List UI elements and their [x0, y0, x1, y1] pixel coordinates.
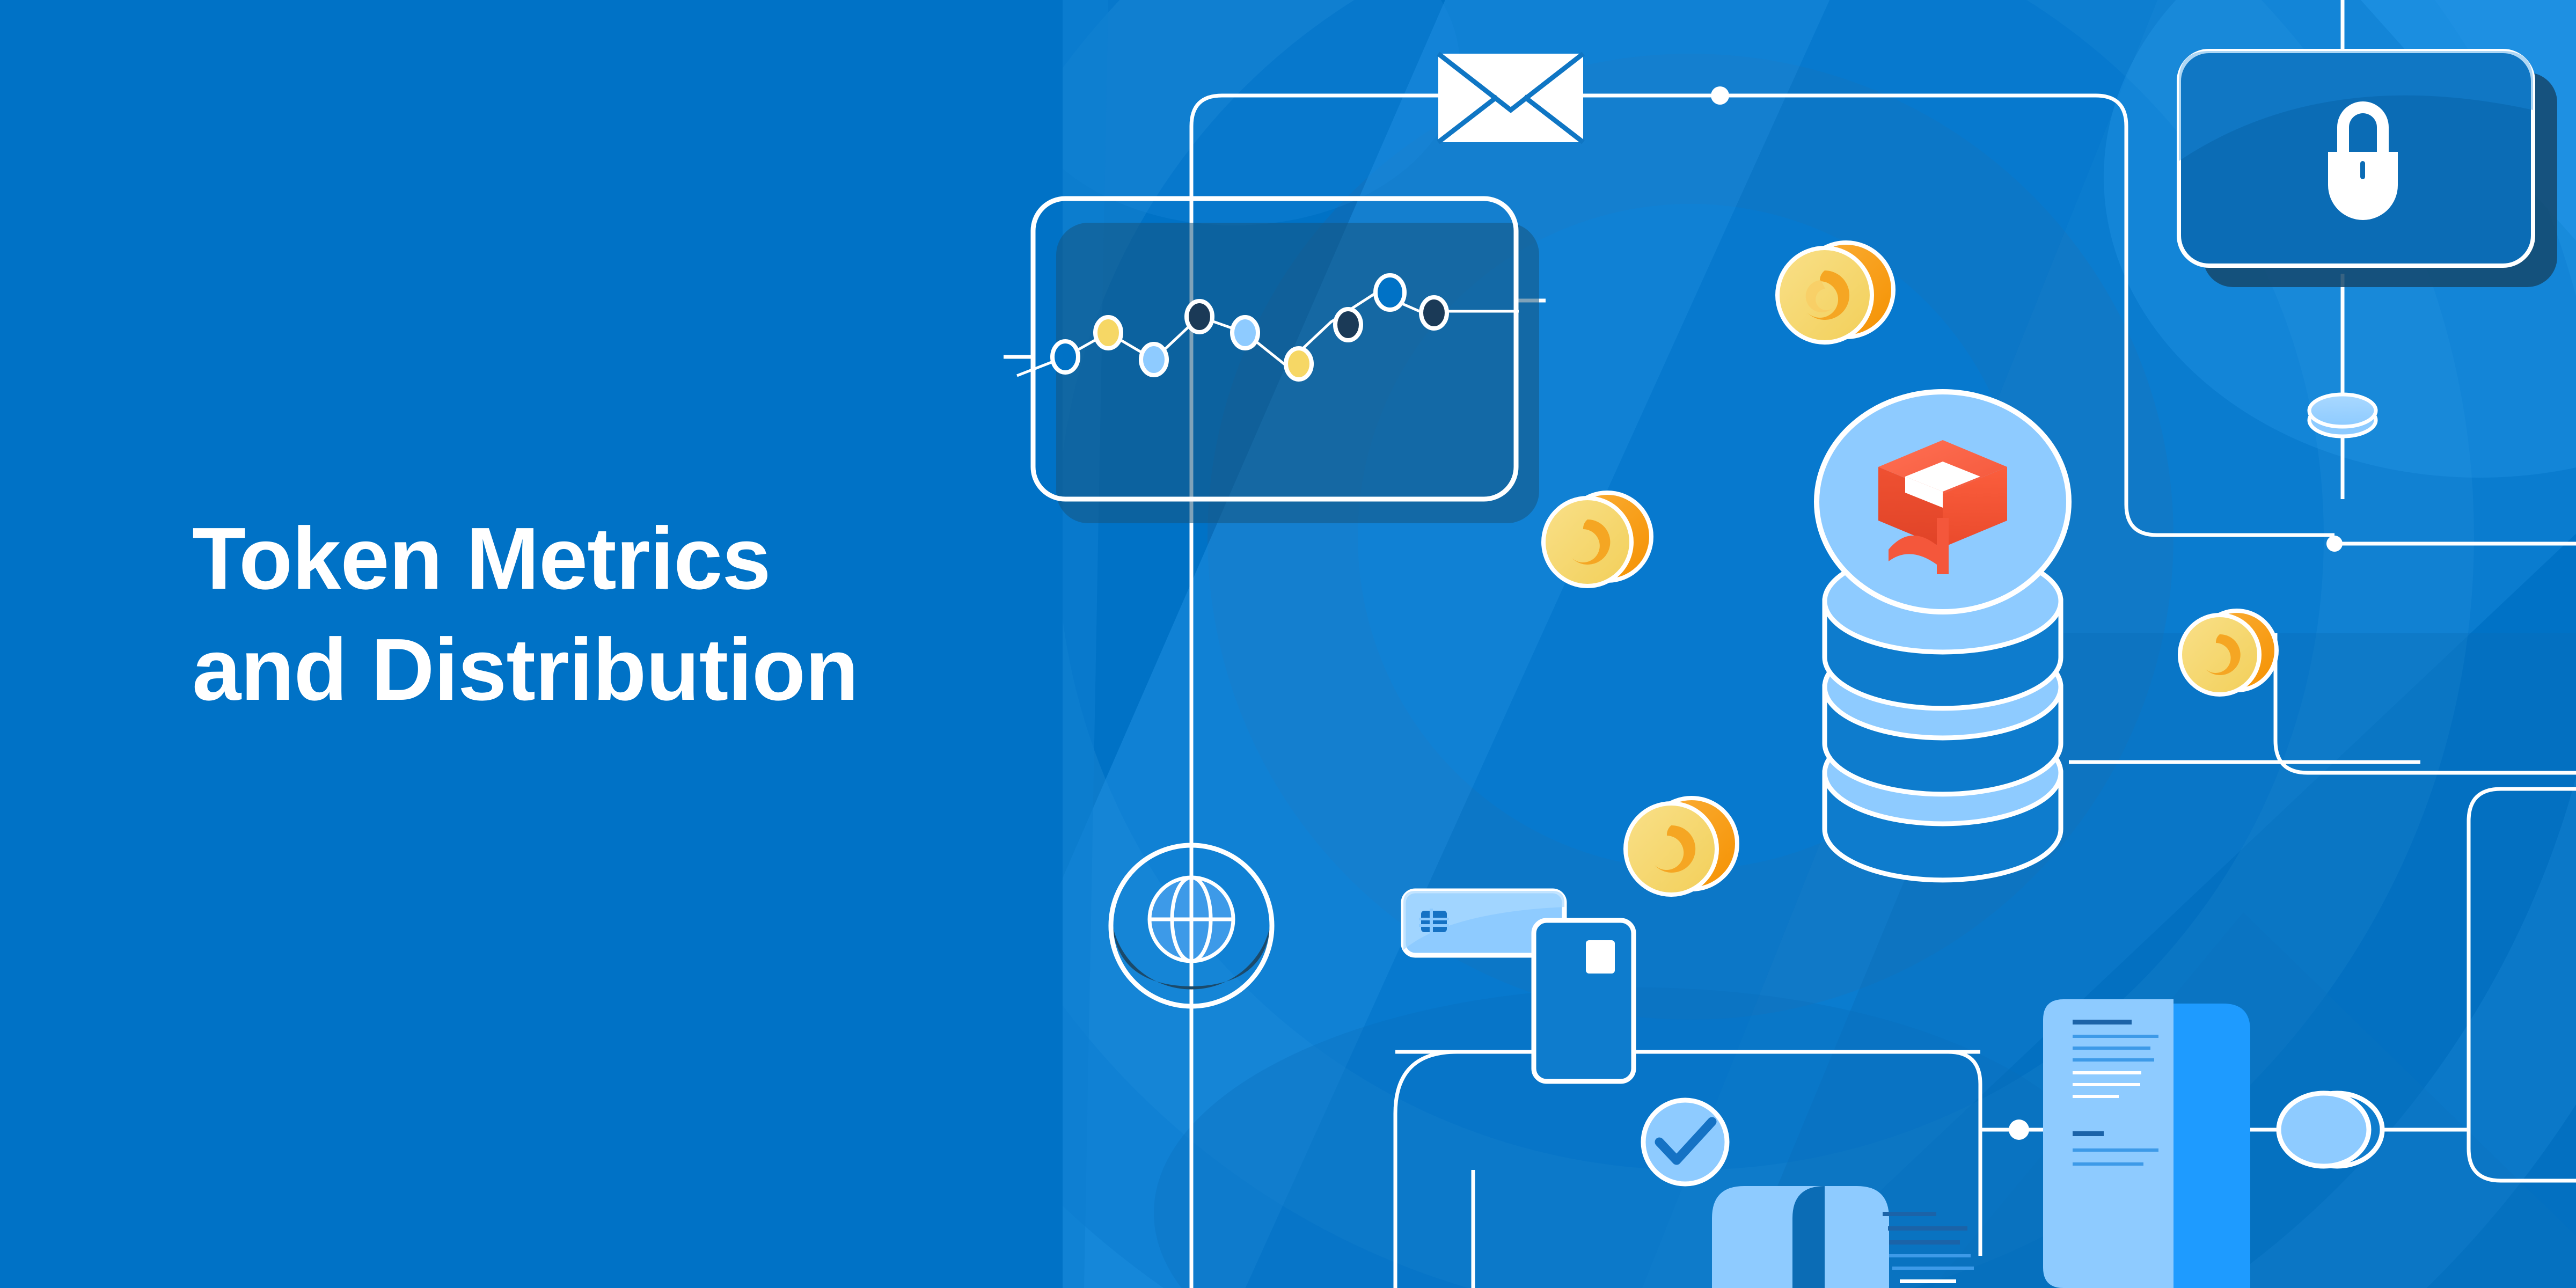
token-database-stack [1817, 392, 2069, 880]
right-disc-node [2279, 1093, 2382, 1166]
phone-icon [1534, 920, 1634, 1081]
chart-point-4 [1232, 317, 1258, 348]
phone-screen-block [1586, 940, 1615, 974]
chart-point-3 [1187, 301, 1212, 332]
check-circle-icon [1643, 1100, 1727, 1184]
coin-top [1777, 243, 1893, 342]
connector-dot-top-right [1711, 86, 1729, 105]
envelope-icon [1438, 54, 1583, 142]
chart-point-2 [1141, 344, 1167, 375]
line-chart-card [1017, 199, 1539, 523]
globe-icon [1150, 877, 1233, 961]
lock-card [2179, 51, 2557, 287]
chart-point-7 [1375, 275, 1404, 310]
coin-bottom-left [1626, 798, 1737, 895]
connector-dot-mid-right [2326, 536, 2343, 552]
chart-point-5 [1286, 348, 1312, 379]
receipt-document-tall [2043, 999, 2173, 1288]
page-title: Token Metrics and Distribution [192, 503, 1104, 725]
chart-point-8 [1421, 297, 1447, 328]
document-blue-tab [2165, 1004, 2250, 1288]
small-disc [2309, 394, 2376, 436]
coin-right [2180, 611, 2277, 694]
coin-left [1543, 493, 1651, 586]
card-chip-icon [1419, 909, 1449, 934]
chart-point-0 [1052, 341, 1078, 372]
chart-point-6 [1335, 309, 1361, 340]
connector-dot-bottom [2009, 1119, 2029, 1140]
chart-point-1 [1095, 317, 1121, 348]
document-left-shoulder [1792, 1186, 1825, 1288]
